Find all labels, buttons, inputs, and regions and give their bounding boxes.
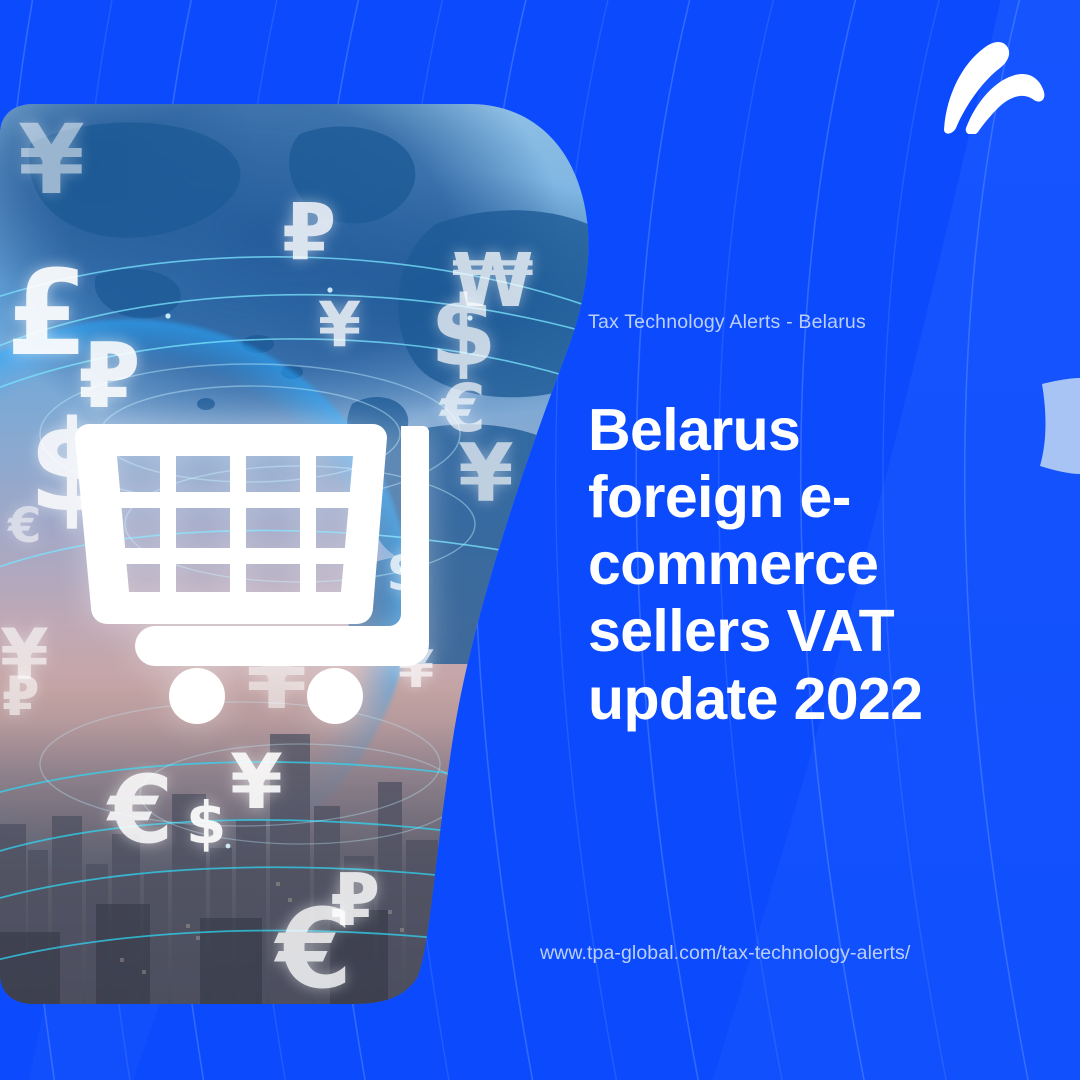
- website-url[interactable]: www.tpa-global.com/tax-technology-alerts…: [540, 942, 910, 965]
- hero-photo: ¥£₽$₽¥₩$€¥¥₽€¥$¥€₽€$$¥: [0, 104, 590, 1004]
- shopping-cart-icon: [75, 414, 435, 724]
- currency-symbol: $: [470, 704, 502, 750]
- hero-image-panel: ¥£₽$₽¥₩$€¥¥₽€¥$¥€₽€$$¥: [0, 104, 590, 1004]
- social-card: ¥£₽$₽¥₩$€¥¥₽€¥$¥€₽€$$¥: [0, 0, 1080, 1080]
- tpa-global-logo-icon[interactable]: [936, 34, 1048, 134]
- text-content-column: Tax Technology Alerts - Belarus Belarus …: [588, 0, 1080, 1080]
- page-title: Belarus foreign e-commerce sellers VAT u…: [588, 397, 1008, 733]
- eyebrow-label: Tax Technology Alerts - Belarus: [588, 311, 866, 334]
